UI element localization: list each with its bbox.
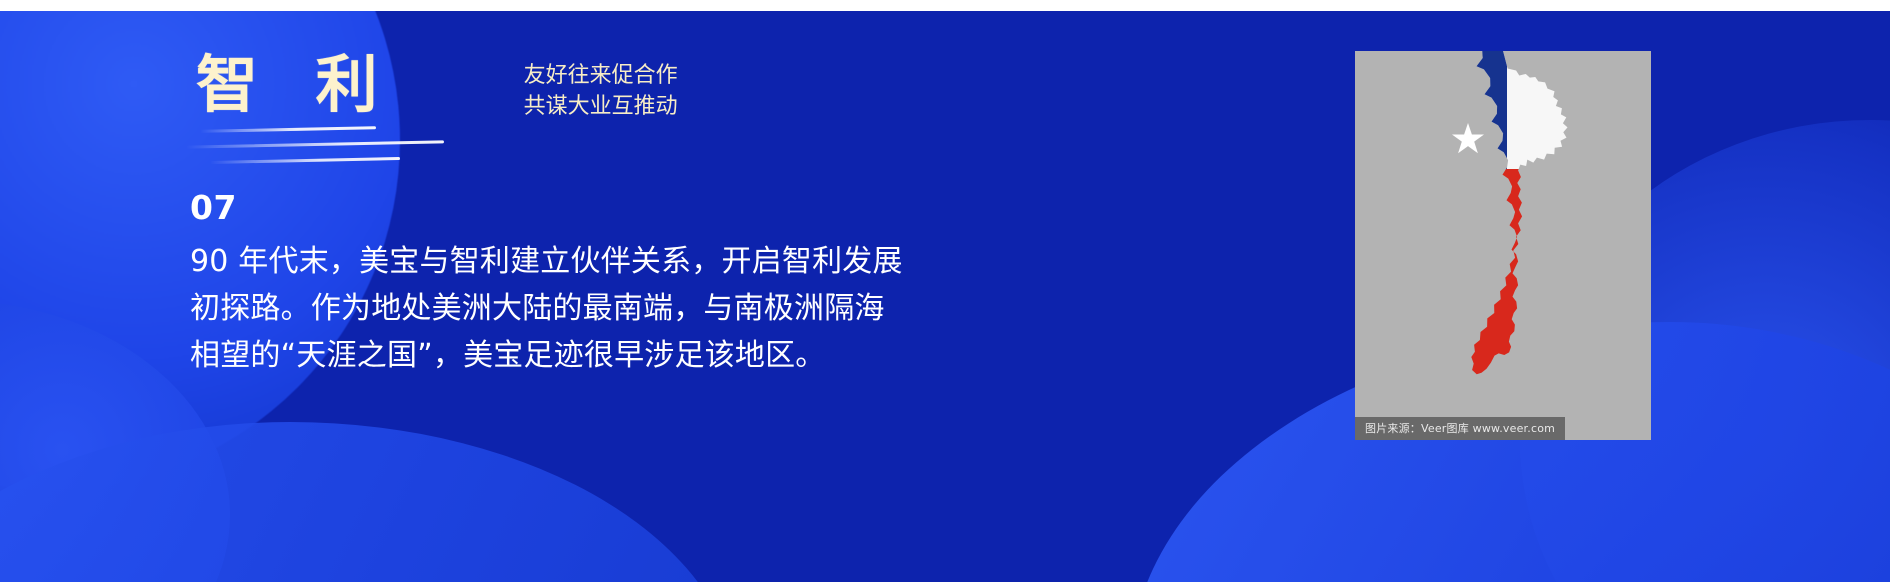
section-number: 07 bbox=[190, 188, 237, 227]
title-row: 智 利 友好往来促合作 共谋大业互推动 bbox=[196, 54, 678, 122]
page-title: 智 利 bbox=[196, 54, 396, 116]
underline-rule-3 bbox=[210, 157, 400, 164]
subtitle-line-2: 共谋大业互推动 bbox=[524, 91, 678, 122]
title-underline-rules bbox=[186, 128, 486, 176]
image-source-watermark: 图片来源：Veer图库 www.veer.com bbox=[1355, 417, 1565, 440]
chile-map-graphic bbox=[1355, 51, 1651, 440]
slide-root: 智 利 友好往来促合作 共谋大业互推动 07 90 年代末，美宝与智利建立伙伴关… bbox=[0, 0, 1890, 582]
body-line: 初探路。作为地处美洲大陆的最南端，与南极洲隔海 bbox=[190, 285, 930, 332]
subtitle-line-1: 友好往来促合作 bbox=[524, 60, 678, 91]
page-subtitle: 友好往来促合作 共谋大业互推动 bbox=[524, 60, 678, 122]
underline-rule-2 bbox=[186, 140, 444, 148]
body-paragraph: 90 年代末，美宝与智利建立伙伴关系，开启智利发展 初探路。作为地处美洲大陆的最… bbox=[190, 238, 930, 379]
chile-flag-map-image: 图片来源：Veer图库 www.veer.com bbox=[1355, 51, 1651, 440]
body-line: 相望的“天涯之国”，美宝足迹很早涉足该地区。 bbox=[190, 332, 930, 379]
underline-rule-1 bbox=[200, 126, 376, 133]
content-column: 智 利 友好往来促合作 共谋大业互推动 07 90 年代末，美宝与智利建立伙伴关… bbox=[0, 0, 1100, 582]
body-line: 90 年代末，美宝与智利建立伙伴关系，开启智利发展 bbox=[190, 238, 930, 285]
